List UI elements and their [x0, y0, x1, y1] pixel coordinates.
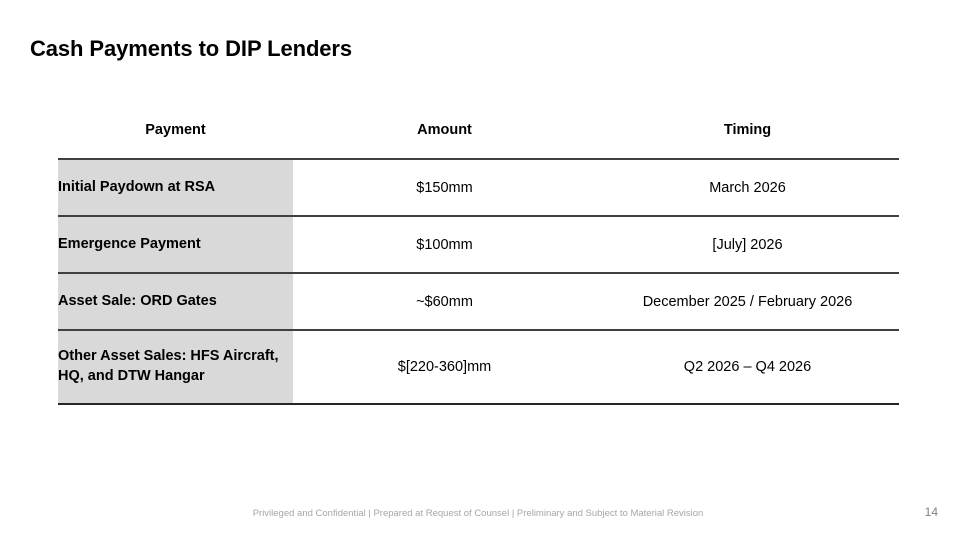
table-row: Asset Sale: ORD Gates ~$60mm December 20…: [58, 273, 899, 330]
table-header-row: Payment Amount Timing: [58, 122, 899, 159]
cell-amount: ~$60mm: [293, 273, 596, 330]
cell-payment: Asset Sale: ORD Gates: [58, 273, 293, 330]
cell-timing: March 2026: [596, 159, 899, 216]
cell-timing: December 2025 / February 2026: [596, 273, 899, 330]
column-header-amount: Amount: [293, 122, 596, 159]
page-title: Cash Payments to DIP Lenders: [30, 36, 352, 62]
table-row: Other Asset Sales: HFS Aircraft, HQ, and…: [58, 330, 899, 404]
page-number: 14: [925, 505, 938, 519]
table-row: Initial Paydown at RSA $150mm March 2026: [58, 159, 899, 216]
column-header-timing: Timing: [596, 122, 899, 159]
slide-canvas: Cash Payments to DIP Lenders Payment Amo…: [0, 0, 956, 536]
table-row: Emergence Payment $100mm [July] 2026: [58, 216, 899, 273]
payments-table-container: Payment Amount Timing Initial Paydown at…: [58, 122, 899, 405]
cell-amount: $[220-360]mm: [293, 330, 596, 404]
cell-payment: Other Asset Sales: HFS Aircraft, HQ, and…: [58, 330, 293, 404]
cell-payment: Emergence Payment: [58, 216, 293, 273]
cell-timing: Q2 2026 – Q4 2026: [596, 330, 899, 404]
cell-amount: $100mm: [293, 216, 596, 273]
table-body: Initial Paydown at RSA $150mm March 2026…: [58, 159, 899, 404]
cell-timing: [July] 2026: [596, 216, 899, 273]
table-header: Payment Amount Timing: [58, 122, 899, 159]
payments-table: Payment Amount Timing Initial Paydown at…: [58, 122, 899, 405]
cell-payment: Initial Paydown at RSA: [58, 159, 293, 216]
column-header-payment: Payment: [58, 122, 293, 159]
cell-amount: $150mm: [293, 159, 596, 216]
confidentiality-footer: Privileged and Confidential | Prepared a…: [0, 508, 956, 519]
